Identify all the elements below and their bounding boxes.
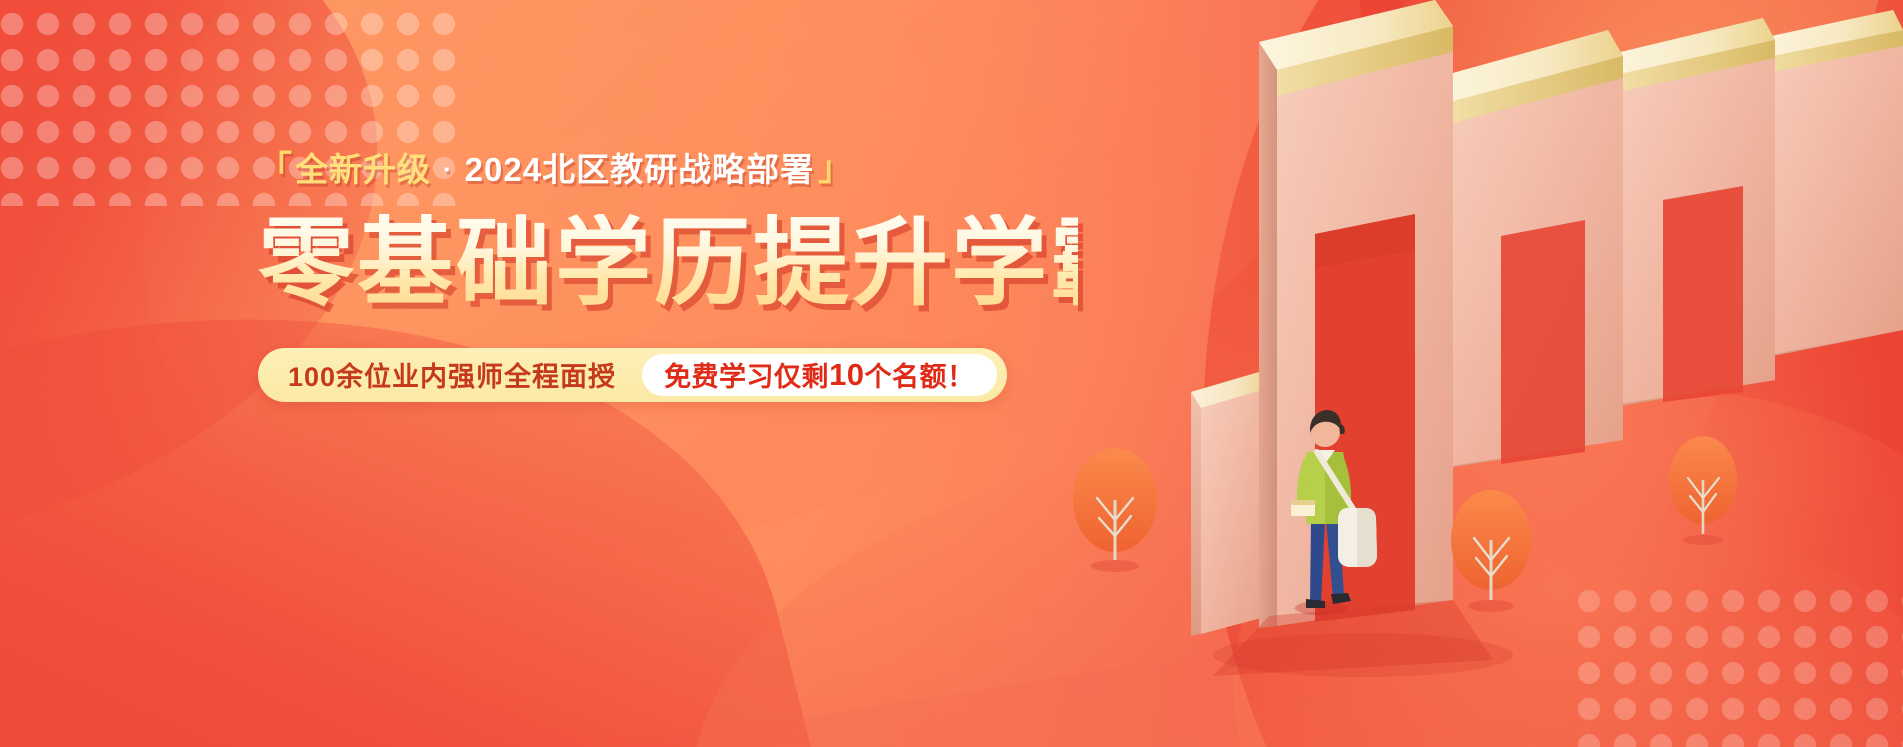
student-figure [1291,410,1377,615]
bg-shape-bottom-right-sheen [1233,387,1903,747]
book-arch-3 [1608,18,1775,408]
eyebrow-line: 「 全新升级 · 2024北区教研战略部署 」 [258,152,1078,186]
seats-count: 10 [829,357,864,393]
bg-shape-right-top-glow [1403,0,1903,280]
tree-right [1451,490,1531,612]
bracket-open-icon: 「 [258,152,293,186]
tree-left [1073,448,1157,572]
promo-pill: 100余位业内强师全程面授 免费学习仅剩10个名额！ [258,348,1007,402]
illustration-book-archways [1063,0,1903,747]
seats-remaining-badge: 免费学习仅剩10个名额！ [642,354,996,396]
bg-shape-ground-wash [690,447,1903,747]
book-arch-1 [1191,0,1453,636]
tree-far-right [1669,436,1737,545]
banner-content: 「 全新升级 · 2024北区教研战略部署 」 零基础学历提升学霸班 100余位… [258,152,1078,402]
eyebrow-gold-text: 全新升级 [295,153,431,186]
eyebrow-white-text: 2024北区教研战略部署 [465,153,814,186]
seats-suffix-text: 个名额！ [865,355,975,394]
eyebrow-separator-icon: · [443,156,453,182]
book-arch-2 [1435,30,1623,470]
bg-shape-right-red [1203,0,1903,747]
bracket-close-icon: 」 [818,152,853,186]
page-title: 零基础学历提升学霸班 [258,214,1078,314]
bg-shape-light-ray [1258,0,1903,567]
promo-banner: 「 全新升级 · 2024北区教研战略部署 」 零基础学历提升学霸班 100余位… [0,0,1903,747]
promo-pill-label: 100余位业内强师全程面授 [288,355,642,394]
seats-prefix-text: 免费学习仅剩 [664,355,829,394]
book-arch-4 [1753,10,1903,360]
dot-pattern-bottom-right [1571,583,1903,747]
